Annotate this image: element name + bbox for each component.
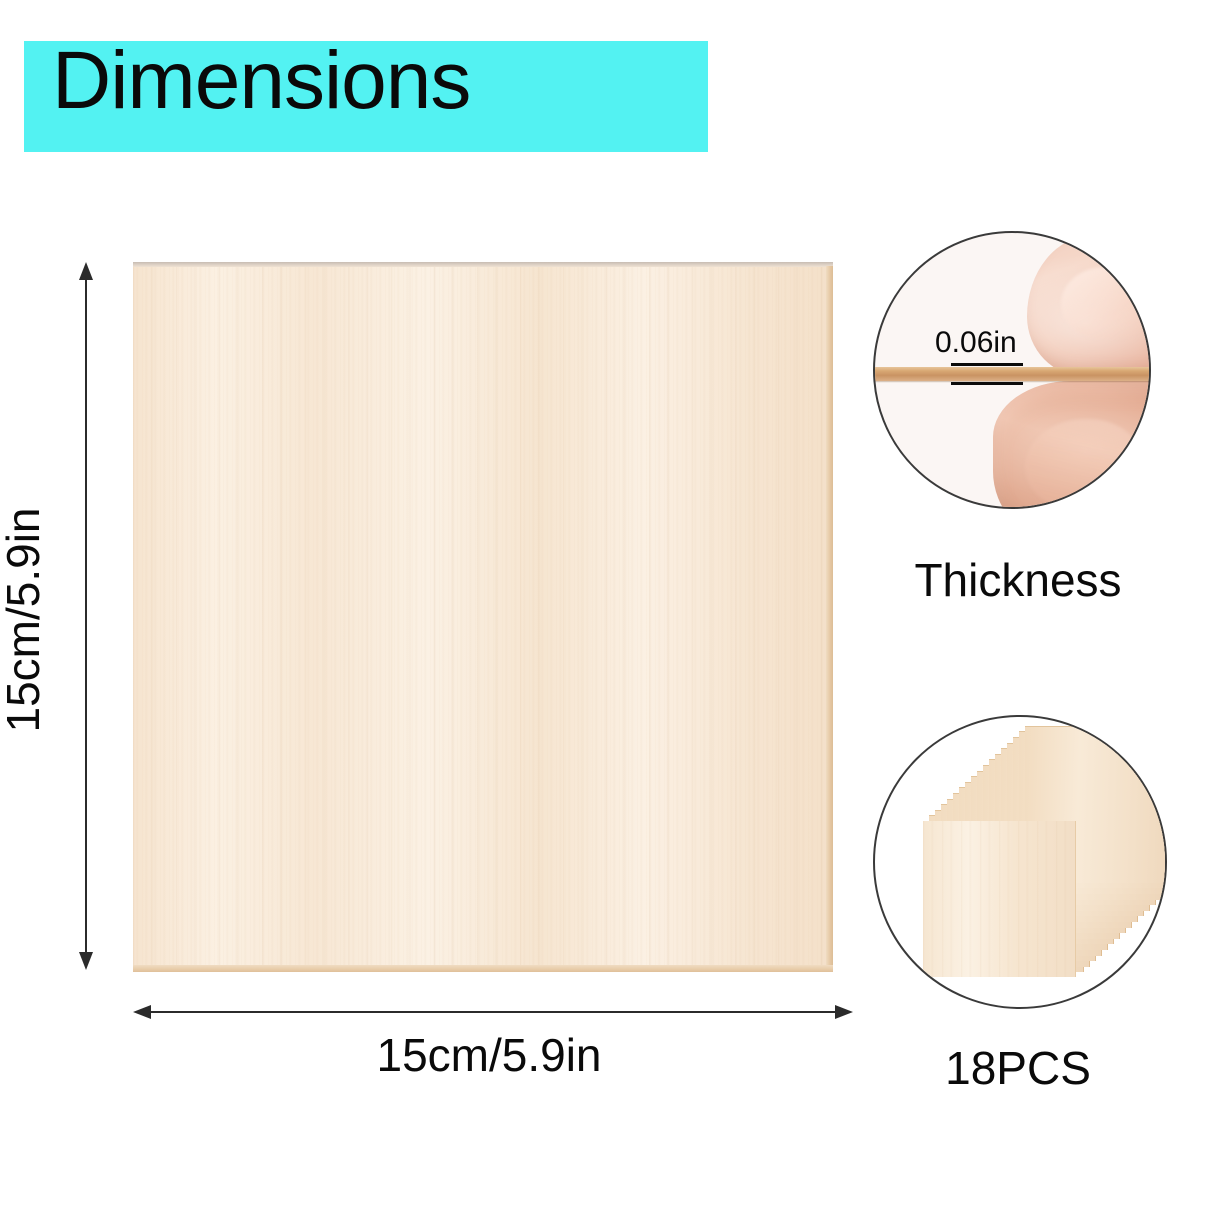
wood-board-top-edge (133, 262, 833, 267)
arrow-down-icon (79, 952, 93, 970)
page-title: Dimensions (52, 40, 470, 122)
wood-sheet-edge (873, 367, 1151, 381)
thickness-caption: Thickness (873, 554, 1163, 606)
wood-board-right-edge (826, 266, 833, 968)
fingernail-top (1061, 267, 1151, 339)
quantity-caption: 18PCS (873, 1042, 1163, 1094)
fingernail-bottom (1025, 419, 1145, 509)
wood-board (133, 262, 833, 972)
thickness-photo: 0.06in (875, 233, 1149, 507)
arrow-left-icon (133, 1005, 151, 1019)
thickness-callout-circle: 0.06in (873, 231, 1151, 509)
thickness-marker-bottom (951, 382, 1023, 385)
product-dimensions-infographic: Dimensions 15cm/5.9in 15cm/5.9in 0.06in … (0, 0, 1214, 1214)
thickness-value-label: 0.06in (935, 327, 1017, 359)
arrow-up-icon (79, 262, 93, 280)
vertical-dimension-line (85, 272, 87, 962)
horizontal-dimension-line (143, 1011, 835, 1013)
wood-board-face (133, 266, 833, 968)
wood-board-bottom-edge (133, 965, 833, 972)
wood-sheet-stack (875, 717, 1165, 1007)
wood-sheet-stack-front (923, 821, 1076, 977)
quantity-callout-circle (873, 715, 1167, 1009)
thickness-marker-top (951, 363, 1023, 366)
width-dimension-label: 15cm/5.9in (133, 1030, 845, 1080)
arrow-right-icon (835, 1005, 853, 1019)
height-dimension-label: 15cm/5.9in (0, 480, 46, 760)
